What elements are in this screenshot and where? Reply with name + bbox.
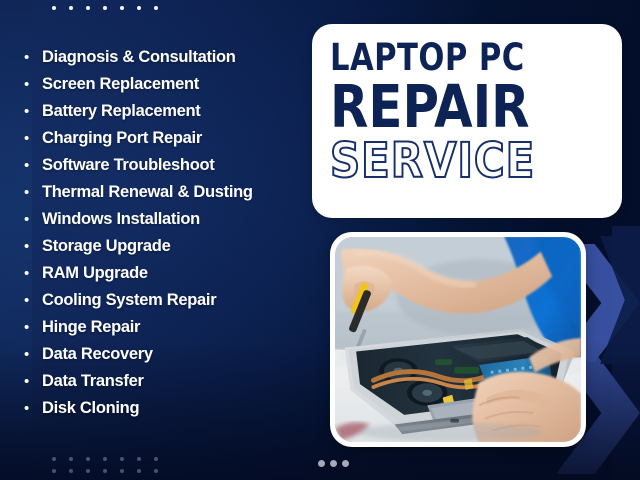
decorative-dot [86,6,90,10]
bullet-icon: • [24,341,42,368]
decorative-dot [137,469,141,473]
service-label: Cooling System Repair [42,287,216,314]
decorative-dot [103,469,107,473]
title-line-service: SERVICE [330,135,536,187]
decorative-dot [69,6,73,10]
service-list-item: •Diagnosis & Consultation [24,44,324,71]
title-card: LAPTOP PC REPAIR SERVICE [312,24,622,218]
decorative-dot [69,457,73,461]
title-line-repair: REPAIR [330,76,529,137]
service-list-item: •Cooling System Repair [24,287,324,314]
decorative-dot [120,457,124,461]
service-list-item: •Disk Cloning [24,395,324,422]
service-label: Data Recovery [42,341,153,368]
service-list-item: •Hinge Repair [24,314,324,341]
bullet-icon: • [24,71,42,98]
service-label: Windows Installation [42,206,200,233]
decorative-dot [52,469,56,473]
decorative-dot [137,457,141,461]
decorative-dot [103,6,107,10]
service-label: RAM Upgrade [42,260,148,287]
decorative-dot [342,460,349,467]
service-list-item: •Data Transfer [24,368,324,395]
service-list-item: •Storage Upgrade [24,233,324,260]
service-list-item: •RAM Upgrade [24,260,324,287]
services-list: •Diagnosis & Consultation•Screen Replace… [24,44,324,422]
decorative-dot [120,469,124,473]
decorative-dot [52,6,56,10]
decorative-dot [154,469,158,473]
decorative-dot [154,6,158,10]
bullet-icon: • [24,287,42,314]
bullet-icon: • [24,152,42,179]
title-text-stack: LAPTOP PC REPAIR SERVICE [330,38,542,187]
service-label: Thermal Renewal & Dusting [42,179,253,206]
decorative-dot [86,469,90,473]
service-label: Disk Cloning [42,395,139,422]
bullet-icon: • [24,179,42,206]
decorative-dot [103,457,107,461]
laptop-repair-photo [335,237,581,442]
service-label: Diagnosis & Consultation [42,44,236,71]
bullet-icon: • [24,233,42,260]
service-list-item: •Thermal Renewal & Dusting [24,179,324,206]
decorative-dot [318,460,325,467]
dot-cluster-bottom-left [52,457,171,480]
decorative-dot [52,457,56,461]
service-label: Software Troubleshoot [42,152,214,179]
poster-canvas: •Diagnosis & Consultation•Screen Replace… [0,0,640,480]
bullet-icon: • [24,395,42,422]
bullet-icon: • [24,206,42,233]
service-label: Storage Upgrade [42,233,170,260]
bullet-icon: • [24,44,42,71]
decorative-dot [137,6,141,10]
service-label: Charging Port Repair [42,125,202,152]
service-label: Battery Replacement [42,98,200,125]
bullet-icon: • [24,368,42,395]
dot-cluster-top [52,6,171,10]
photo-card [330,232,586,447]
service-list-item: •Data Recovery [24,341,324,368]
decorative-dot [154,457,158,461]
service-list-item: •Battery Replacement [24,98,324,125]
decorative-dot [120,6,124,10]
service-list-item: •Windows Installation [24,206,324,233]
service-list-item: •Screen Replacement [24,71,324,98]
service-list-item: •Software Troubleshoot [24,152,324,179]
decorative-dot [330,460,337,467]
decorative-dot [86,457,90,461]
dot-cluster-photo [318,460,354,467]
service-list-item: •Charging Port Repair [24,125,324,152]
bullet-icon: • [24,125,42,152]
bullet-icon: • [24,314,42,341]
bullet-icon: • [24,98,42,125]
decorative-dot [69,469,73,473]
service-label: Hinge Repair [42,314,140,341]
service-label: Screen Replacement [42,71,199,98]
service-label: Data Transfer [42,368,144,395]
bullet-icon: • [24,260,42,287]
